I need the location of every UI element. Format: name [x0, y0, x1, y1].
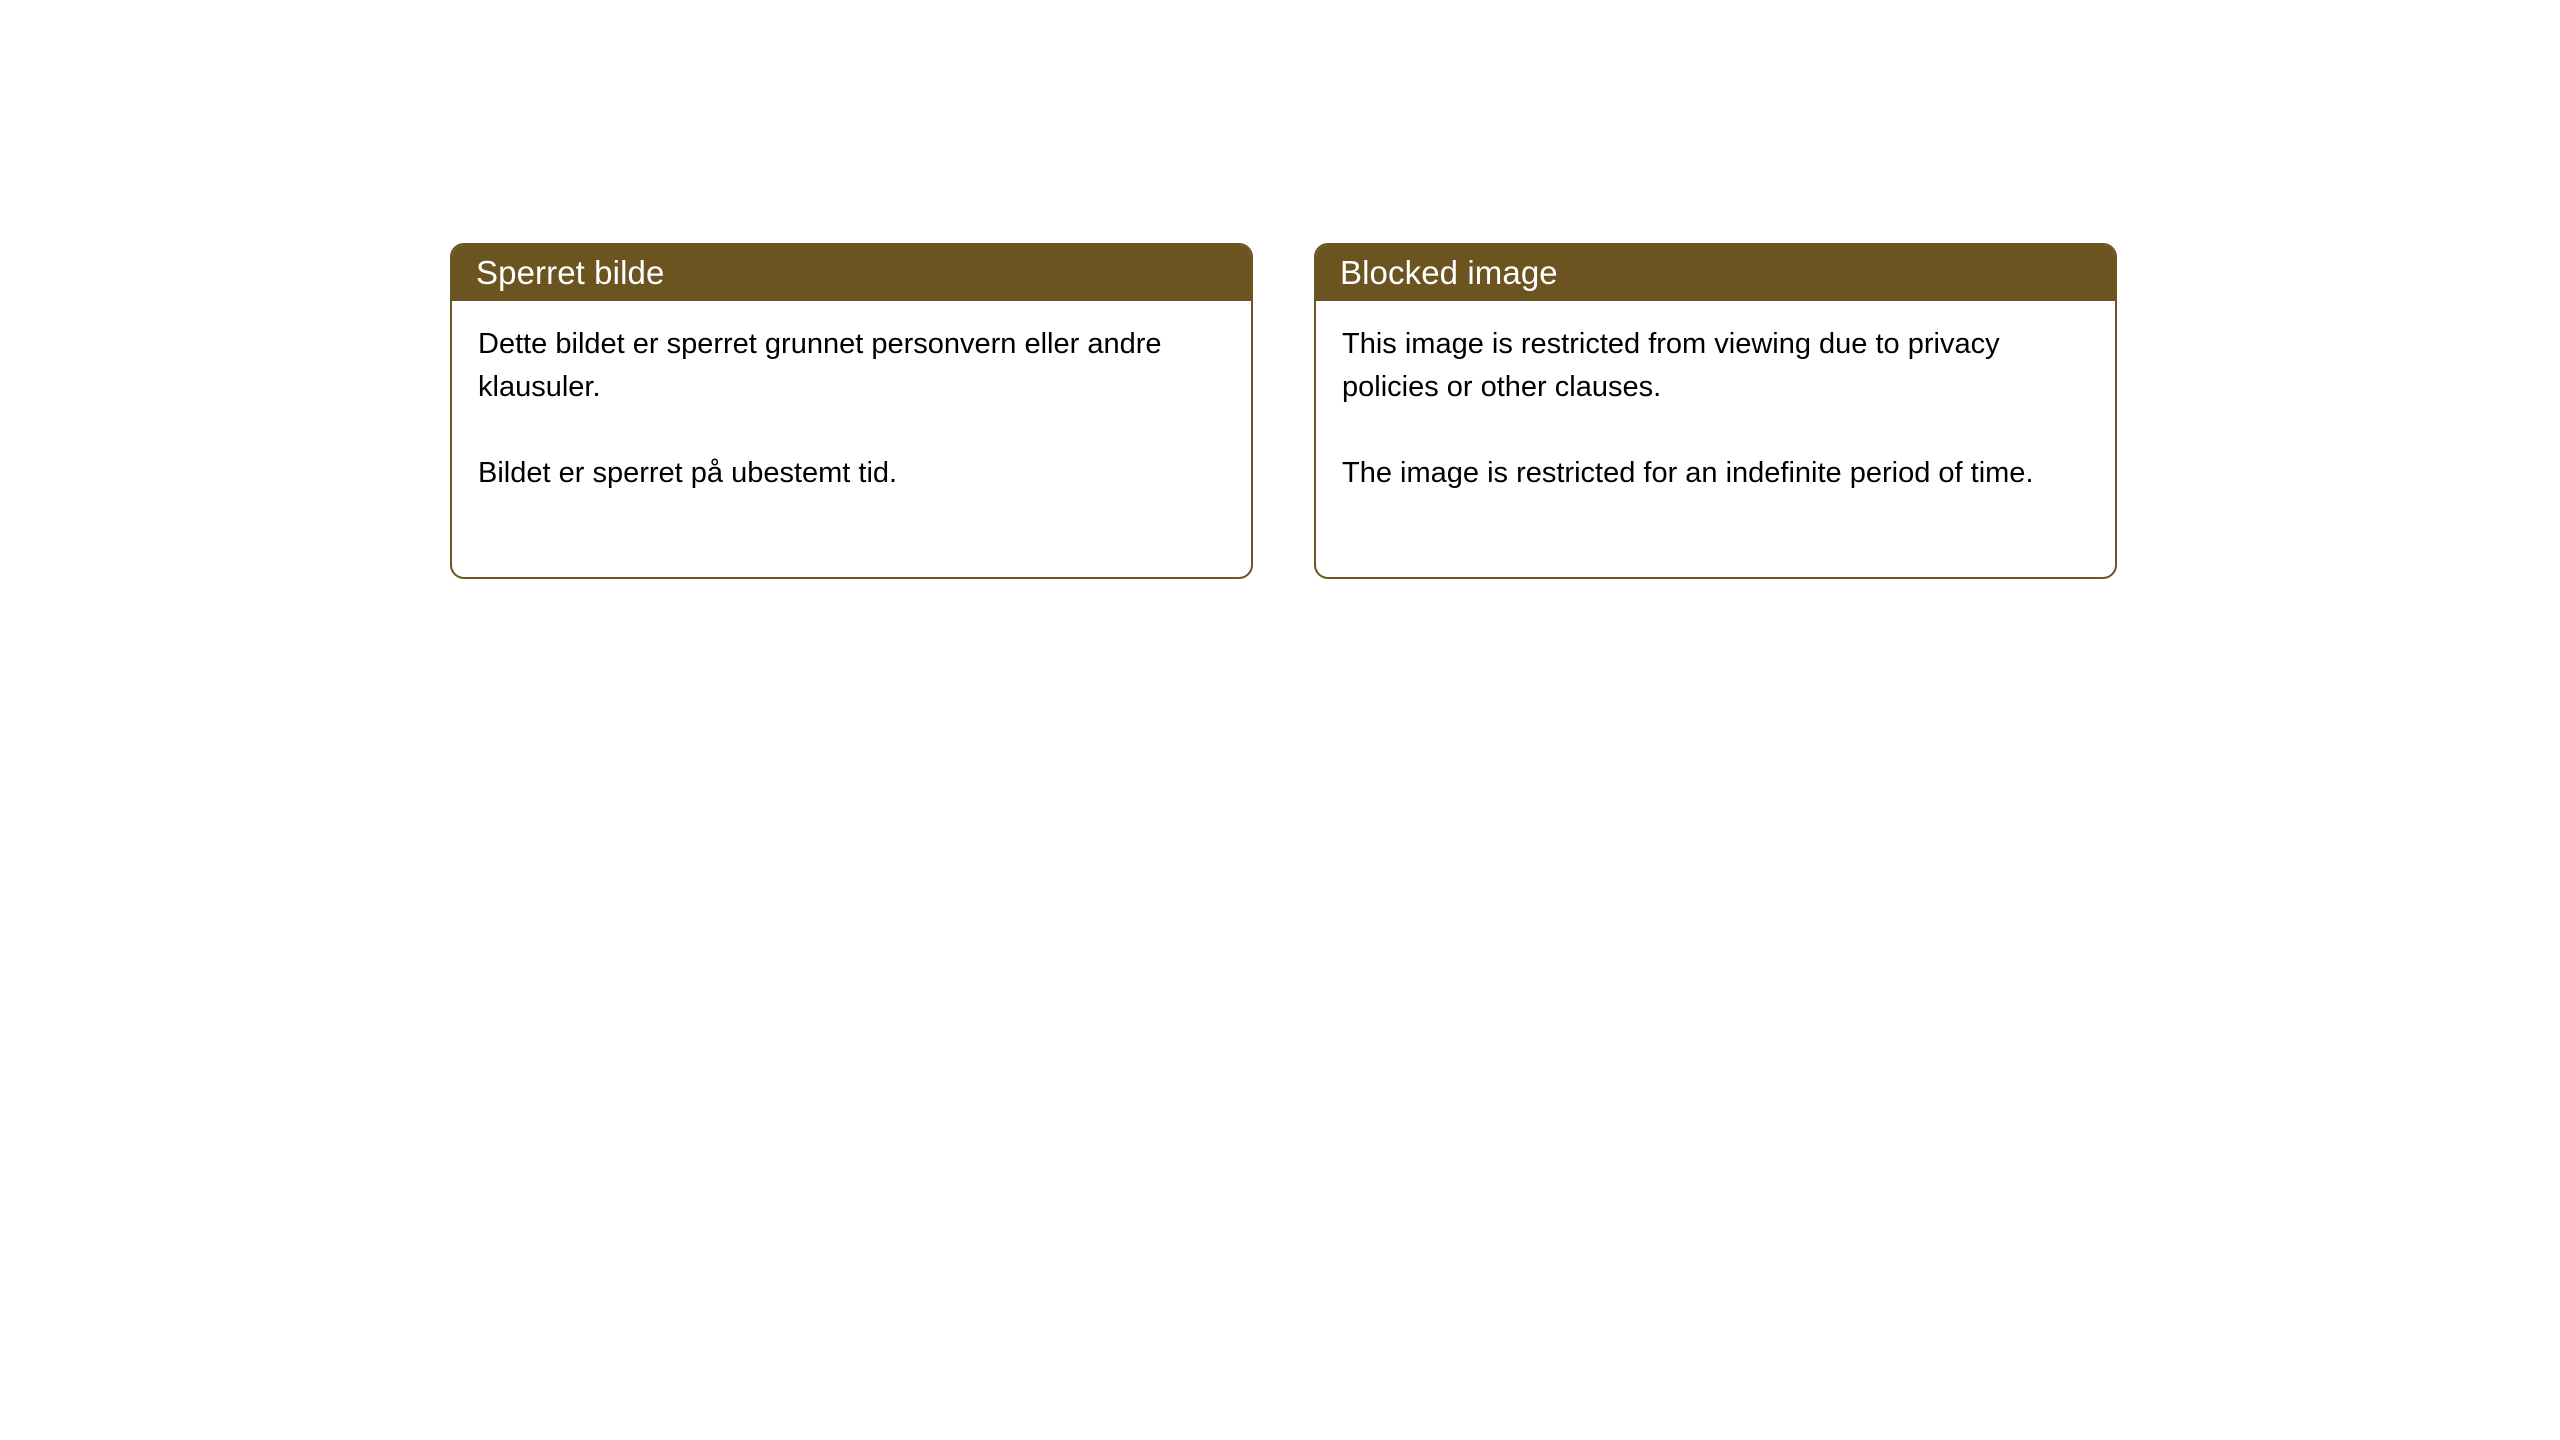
card-title-english: Blocked image — [1340, 256, 1558, 289]
card-paragraph-primary-english: This image is restricted from viewing du… — [1342, 323, 2085, 409]
card-header-english: Blocked image — [1314, 243, 2117, 301]
card-title-norwegian: Sperret bilde — [476, 256, 664, 289]
blocked-image-notices: Sperret bilde Dette bildet er sperret gr… — [450, 243, 2117, 579]
blocked-image-card-norwegian: Sperret bilde Dette bildet er sperret gr… — [450, 243, 1253, 579]
card-body-english: This image is restricted from viewing du… — [1316, 301, 2115, 577]
card-header-norwegian: Sperret bilde — [450, 243, 1253, 301]
card-paragraph-secondary-english: The image is restricted for an indefinit… — [1342, 452, 2085, 495]
card-paragraph-secondary-norwegian: Bildet er sperret på ubestemt tid. — [478, 452, 1221, 495]
blocked-image-card-english: Blocked image This image is restricted f… — [1314, 243, 2117, 579]
card-body-norwegian: Dette bildet er sperret grunnet personve… — [452, 301, 1251, 577]
card-paragraph-primary-norwegian: Dette bildet er sperret grunnet personve… — [478, 323, 1221, 409]
